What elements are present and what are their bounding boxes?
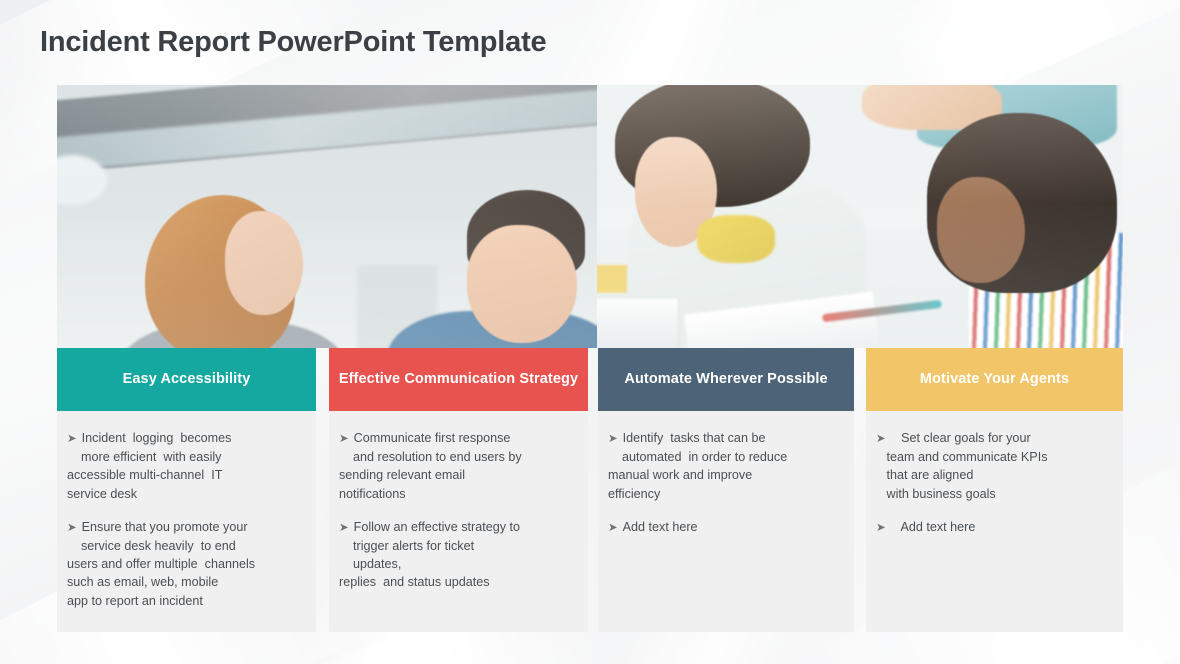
bullet-line: manual work and improve <box>608 466 844 484</box>
slide-canvas: Incident Report PowerPoint Template <box>0 0 1180 664</box>
bullet-line: users and offer multiple channels <box>67 555 306 573</box>
photo-person-face <box>225 211 303 315</box>
bullet-arrow-icon: ➤ <box>67 522 77 534</box>
bullet-line: such as email, web, mobile <box>67 573 306 591</box>
bullet-line: team and communicate KPIs <box>876 448 1113 466</box>
bullet-arrow-icon: ➤ <box>608 522 618 534</box>
team-collaboration-photo <box>57 85 1123 348</box>
bullet-line: ➤ Add text here <box>876 518 1113 537</box>
bullet-line: efficiency <box>608 485 844 503</box>
bullet-line: service desk <box>67 485 306 503</box>
bullet-line: that are aligned <box>876 466 1113 484</box>
bullet-line: ➤Follow an effective strategy to <box>339 518 578 537</box>
bullet-line: notifications <box>339 485 578 503</box>
photo-person-face <box>467 225 577 343</box>
bullet-line: accessible multi-channel IT <box>67 466 306 484</box>
bullet-line: updates, <box>339 555 578 573</box>
bullet-item: ➤Add text here <box>608 518 844 537</box>
bullet-item: ➤Identify tasks that can be automated in… <box>608 429 844 503</box>
bullet-item: ➤Communicate first response and resoluti… <box>339 429 578 503</box>
bullet-line: automated in order to reduce <box>608 448 844 466</box>
bullet-arrow-icon: ➤ <box>339 433 349 445</box>
bullet-item: ➤Incident logging becomes more efficient… <box>67 429 306 503</box>
bullet-arrow-icon: ➤ <box>876 522 886 534</box>
photo-scene-right <box>597 85 1123 348</box>
bullet-arrow-icon: ➤ <box>339 522 349 534</box>
bullet-line: replies and status updates <box>339 573 578 591</box>
bullet-line: with business goals <box>876 485 1113 503</box>
bullet-line: sending relevant email <box>339 466 578 484</box>
photo-laptop <box>597 297 679 348</box>
bullet-line: ➤ Set clear goals for your <box>876 429 1113 448</box>
column-motivate-your-agents: Motivate Your Agents ➤ Set clear goals f… <box>866 348 1123 632</box>
column-header-automate-wherever-possible[interactable]: Automate Wherever Possible <box>598 348 854 411</box>
bullet-arrow-icon: ➤ <box>67 433 77 445</box>
column-effective-communication-strategy: Effective Communication Strategy ➤Commun… <box>329 348 588 632</box>
bullet-arrow-icon: ➤ <box>876 433 886 445</box>
bullet-item: ➤ Add text here <box>876 518 1113 537</box>
column-body-automate-wherever-possible: ➤Identify tasks that can be automated in… <box>598 411 854 632</box>
bullet-arrow-icon: ➤ <box>608 433 618 445</box>
bullet-line: ➤Incident logging becomes <box>67 429 306 448</box>
column-automate-wherever-possible: Automate Wherever Possible ➤Identify tas… <box>598 348 854 632</box>
bullet-line: ➤Add text here <box>608 518 844 537</box>
bullet-item: ➤Ensure that you promote your service de… <box>67 518 306 610</box>
column-header-effective-communication-strategy[interactable]: Effective Communication Strategy <box>329 348 588 411</box>
bullet-item: ➤Follow an effective strategy to trigger… <box>339 518 578 592</box>
column-body-easy-accessibility: ➤Incident logging becomes more efficient… <box>57 411 316 632</box>
bullet-line: ➤Identify tasks that can be <box>608 429 844 448</box>
bullet-line: service desk heavily to end <box>67 537 306 555</box>
photo-scene-left <box>57 85 597 348</box>
photo-person-face <box>937 177 1025 283</box>
column-header-easy-accessibility[interactable]: Easy Accessibility <box>57 348 316 411</box>
column-header-motivate-your-agents[interactable]: Motivate Your Agents <box>866 348 1123 411</box>
photo-necklace <box>697 215 775 263</box>
bullet-item: ➤ Set clear goals for your team and comm… <box>876 429 1113 503</box>
column-easy-accessibility: Easy Accessibility ➤Incident logging bec… <box>57 348 316 632</box>
bullet-line: and resolution to end users by <box>339 448 578 466</box>
page-title: Incident Report PowerPoint Template <box>40 26 546 59</box>
bullet-line: ➤Ensure that you promote your <box>67 518 306 537</box>
bullet-line: ➤Communicate first response <box>339 429 578 448</box>
column-body-effective-communication-strategy: ➤Communicate first response and resoluti… <box>329 411 588 632</box>
column-body-motivate-your-agents: ➤ Set clear goals for your team and comm… <box>866 411 1123 632</box>
bullet-line: trigger alerts for ticket <box>339 537 578 555</box>
bullet-line: app to report an incident <box>67 592 306 610</box>
bullet-line: more efficient with easily <box>67 448 306 466</box>
